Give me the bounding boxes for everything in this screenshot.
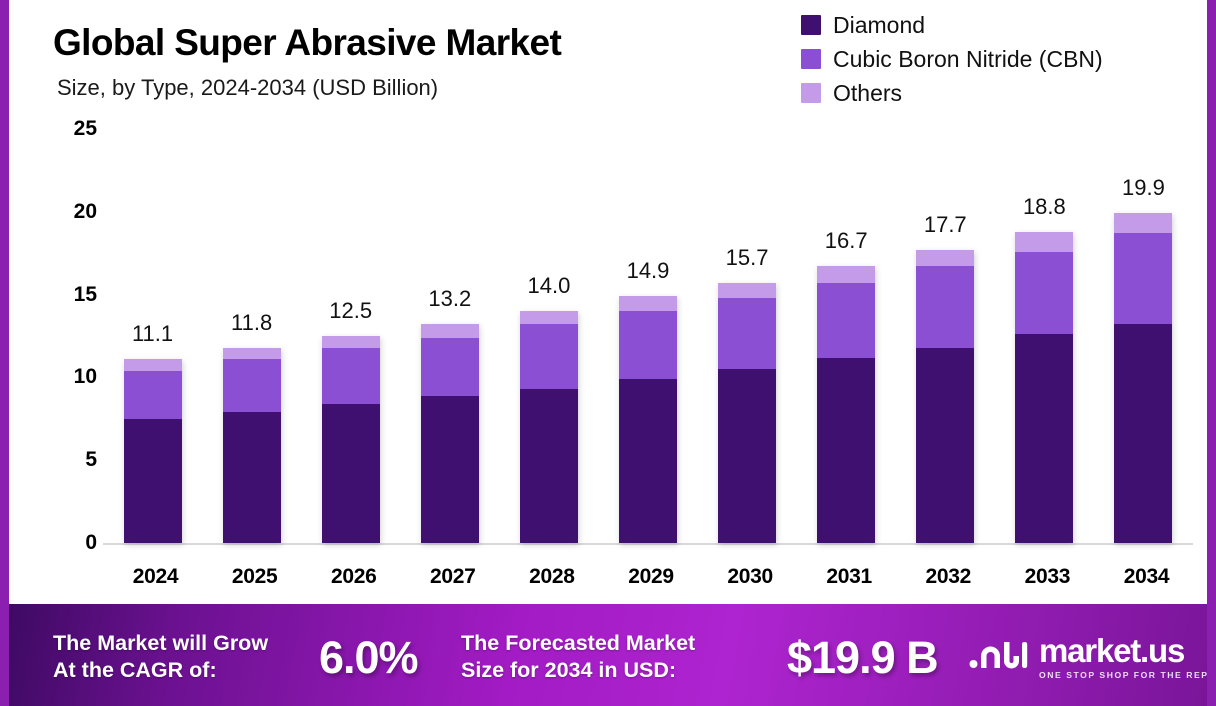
y-axis-tick-label: 5 — [85, 448, 97, 472]
y-axis-tick-label: 15 — [74, 283, 97, 307]
x-axis: 2024202520262027202820292030203120322033… — [103, 0, 1193, 600]
brand-name: market.us — [1039, 634, 1207, 667]
forecast-label-line2: Size for 2034 in USD: — [461, 657, 695, 684]
cagr-value: 6.0% — [319, 632, 418, 684]
x-axis-tick-label: 2025 — [215, 565, 295, 589]
x-axis-tick-label: 2034 — [1106, 565, 1186, 589]
footer-banner: The Market will Grow At the CAGR of: 6.0… — [9, 604, 1207, 706]
forecast-value: $19.9 B — [787, 632, 938, 684]
x-axis-tick-label: 2029 — [611, 565, 691, 589]
x-axis-tick-label: 2030 — [710, 565, 790, 589]
x-axis-tick-label: 2032 — [908, 565, 988, 589]
y-axis-tick-label: 20 — [74, 200, 97, 224]
infographic-page: Global Super Abrasive Market Size, by Ty… — [0, 0, 1216, 706]
cagr-label-line2: At the CAGR of: — [53, 657, 268, 684]
y-axis: 0510152025 — [45, 0, 97, 600]
brand-logo[interactable]: market.us ONE STOP SHOP FOR THE REPORTS — [969, 634, 1207, 680]
brand-text: market.us ONE STOP SHOP FOR THE REPORTS — [1039, 634, 1207, 680]
x-axis-tick-label: 2028 — [512, 565, 592, 589]
y-axis-tick-label: 0 — [85, 531, 97, 555]
x-axis-tick-label: 2027 — [413, 565, 493, 589]
y-axis-tick-label: 25 — [74, 117, 97, 141]
brand-tagline: ONE STOP SHOP FOR THE REPORTS — [1039, 670, 1207, 680]
cagr-label-line1: The Market will Grow — [53, 630, 268, 657]
forecast-label-line1: The Forecasted Market — [461, 630, 695, 657]
forecast-label: The Forecasted Market Size for 2034 in U… — [461, 630, 695, 684]
x-axis-tick-label: 2024 — [116, 565, 196, 589]
market-us-logo-icon — [969, 634, 1029, 676]
x-axis-tick-label: 2026 — [314, 565, 394, 589]
chart-plot-area: 0510152025 11.111.812.513.214.014.915.71… — [9, 0, 1207, 600]
y-axis-tick-label: 10 — [74, 365, 97, 389]
x-axis-tick-label: 2033 — [1007, 565, 1087, 589]
cagr-label: The Market will Grow At the CAGR of: — [53, 630, 268, 684]
x-axis-tick-label: 2031 — [809, 565, 889, 589]
